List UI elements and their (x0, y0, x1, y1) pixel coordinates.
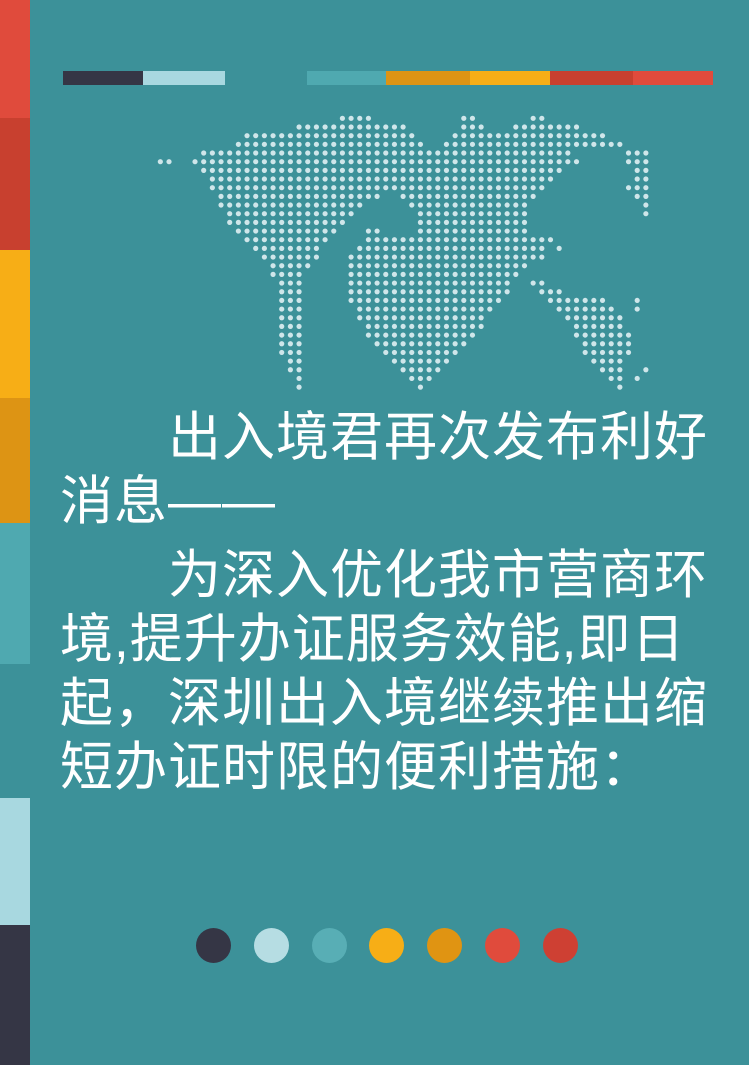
strip-segment-red-dark (0, 118, 30, 250)
top-color-bar (0, 0, 749, 100)
strip-segment-navy-dark (0, 925, 30, 1065)
topbar-segment-orange (386, 71, 470, 85)
topbar-segment-blue-pale (143, 71, 225, 85)
strip-segment-teal-base (0, 664, 30, 798)
world-map-svg (130, 112, 650, 392)
dot-red-bright (485, 928, 520, 963)
topbar-segment-red-dark (550, 71, 633, 85)
dot-teal-mid (312, 928, 347, 963)
paragraph-announcement: 出入境君再次发布利好消息—— (60, 406, 720, 534)
bottom-dot-row (196, 928, 576, 964)
left-color-strip (0, 0, 30, 1065)
world-map-graphic (130, 112, 650, 392)
topbar-segment-navy-dark (63, 71, 143, 85)
topbar-segment-red-bright (633, 71, 713, 85)
strip-segment-blue-pale (0, 798, 30, 925)
dot-navy-dark (196, 928, 231, 963)
topbar-segment-yellow (470, 71, 550, 85)
dot-yellow (369, 928, 404, 963)
dot-blue-pale (254, 928, 289, 963)
paragraph-measures: 为深入优化我市营商环境,提升办证服务效能,即日起，深圳出入境继续推出缩短办证时限… (60, 544, 720, 800)
topbar-segment-teal-light (307, 71, 386, 85)
dot-red-dark (543, 928, 578, 963)
dot-orange (427, 928, 462, 963)
poster-canvas: 出入境君再次发布利好消息—— 为深入优化我市营商环境,提升办证服务效能,即日起，… (0, 0, 749, 1065)
strip-segment-orange (0, 398, 30, 523)
body-text-block: 出入境君再次发布利好消息—— 为深入优化我市营商环境,提升办证服务效能,即日起，… (60, 406, 720, 800)
strip-segment-teal-mid (0, 523, 30, 664)
strip-segment-yellow (0, 250, 30, 398)
